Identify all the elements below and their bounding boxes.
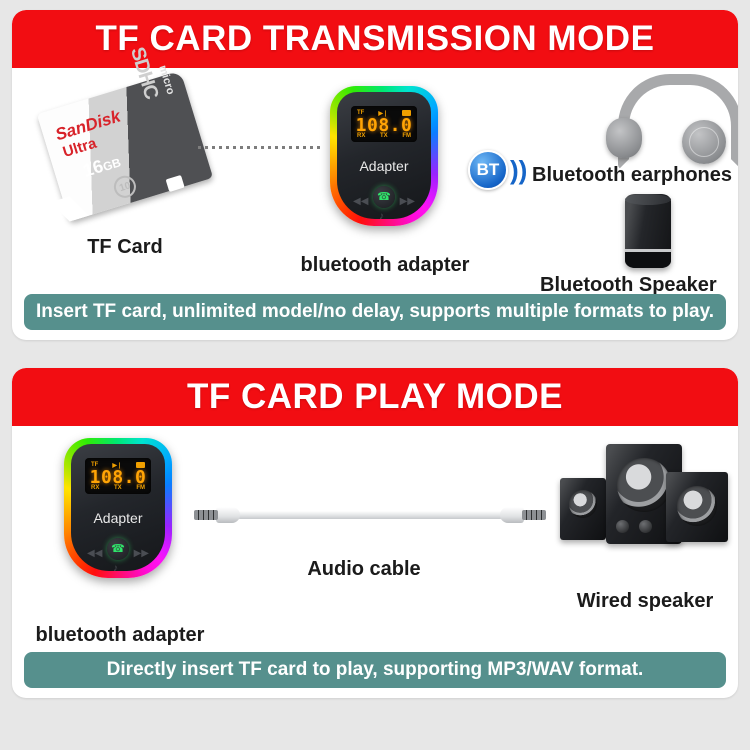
speaker-driver xyxy=(569,490,597,518)
panel-1-title: TF CARD TRANSMISSION MODE xyxy=(96,19,655,59)
headphone-cup-left xyxy=(606,118,642,158)
signal-waves-icon: )) xyxy=(510,157,527,183)
phone-icon: ☎ xyxy=(377,192,391,203)
plug-barrel xyxy=(500,507,524,523)
label-audio-cable: Audio cable xyxy=(264,558,464,581)
adapter-mode-button: ♪ xyxy=(113,563,118,574)
adapter-next-button: ▶▶ xyxy=(134,548,149,559)
tf-card-notch xyxy=(166,175,185,192)
panel-2-stage: TF ▶❘ 108.0 RX TX FM Adapter ☎ xyxy=(12,426,738,646)
display-label-fm: FM xyxy=(136,485,145,491)
adapter-call-button: ☎ xyxy=(373,186,395,208)
cable-plug-left xyxy=(194,504,240,526)
tf-card-capacity: 16GB xyxy=(81,151,124,182)
plug-tip xyxy=(522,510,546,520)
plug-barrel xyxy=(216,507,240,523)
wired-speaker-image xyxy=(560,436,728,546)
panel-tf-card-transmission-mode: TF CARD TRANSMISSION MODE SanDisk Ultra … xyxy=(12,10,738,340)
tf-card-speed-class: 10 xyxy=(111,173,138,200)
speaker-driver xyxy=(617,458,671,512)
tf-card-body: SanDisk Ultra 16GB 10 SDHC micro xyxy=(37,71,213,222)
panel-1-caption: Insert TF card, unlimited model/no delay… xyxy=(36,301,714,323)
label-wired-speaker: Wired speaker xyxy=(560,590,730,613)
bluetooth-speaker-image xyxy=(625,194,671,268)
adapter-device-name: Adapter xyxy=(71,510,165,526)
panel-2-caption: Directly insert TF card to play, support… xyxy=(107,659,644,681)
display-label-tx: TX xyxy=(114,485,122,491)
panel-1-header: TF CARD TRANSMISSION MODE xyxy=(12,10,738,68)
bt-badge-circle: BT xyxy=(468,150,508,190)
panel-1-stage: SanDisk Ultra 16GB 10 SDHC micro xyxy=(12,68,738,288)
adapter-shell: TF ▶❘ 108.0 RX TX FM Adapter ☎ xyxy=(71,444,165,571)
panel-2-header: TF CARD PLAY MODE xyxy=(12,368,738,426)
adapter-mode-button: ♪ xyxy=(379,211,384,222)
adapter-device-name: Adapter xyxy=(337,158,431,174)
bluetooth-earphones-image xyxy=(604,74,734,170)
infographic-page: TF CARD TRANSMISSION MODE SanDisk Ultra … xyxy=(0,0,750,750)
adapter-next-button: ▶▶ xyxy=(400,196,415,207)
headphone-cup-right xyxy=(682,120,726,164)
adapter-previous-button: ◀◀ xyxy=(87,548,102,559)
panel-1-caption-bar: Insert TF card, unlimited model/no delay… xyxy=(24,294,726,330)
panel-2-title: TF CARD PLAY MODE xyxy=(187,377,563,417)
tf-card-image: SanDisk Ultra 16GB 10 SDHC micro xyxy=(37,71,213,222)
adapter-previous-button: ◀◀ xyxy=(353,196,368,207)
tf-card-bevel xyxy=(50,196,88,221)
satellite-speaker-left xyxy=(560,478,606,540)
adapter-shell: TF ▶❘ 108.0 RX TX FM Adapter ☎ xyxy=(337,92,431,219)
tf-card-capacity-unit: GB xyxy=(101,155,122,174)
panel-2-caption-bar: Directly insert TF card to play, support… xyxy=(24,652,726,688)
volume-knob-icon xyxy=(616,520,629,533)
speaker-base xyxy=(625,252,671,268)
panel-tf-card-play-mode: TF CARD PLAY MODE TF ▶❘ 108.0 RX xyxy=(12,368,738,698)
bluetooth-adapter-image-2: TF ▶❘ 108.0 RX TX FM Adapter ☎ xyxy=(64,438,172,578)
cable-plug-right xyxy=(500,504,546,526)
phone-icon: ☎ xyxy=(111,544,125,555)
display-label-rx: RX xyxy=(91,485,99,491)
display-label-fm: FM xyxy=(402,133,411,139)
speaker-knobs xyxy=(610,516,686,536)
adapter-display: TF ▶❘ 108.0 RX TX FM xyxy=(85,458,151,494)
adapter-call-button: ☎ xyxy=(107,538,129,560)
label-bluetooth-earphones: Bluetooth earphones xyxy=(532,164,732,187)
label-bluetooth-adapter: bluetooth adapter xyxy=(290,254,480,277)
plug-tip xyxy=(194,510,218,520)
speaker-top xyxy=(625,194,671,205)
label-tf-card: TF Card xyxy=(50,236,200,259)
cable-wire xyxy=(236,511,504,519)
adapter-display-bottom-row: RX TX FM xyxy=(357,132,411,140)
display-label-rx: RX xyxy=(357,133,365,139)
bluetooth-adapter-image-1: TF ▶❘ 108.0 RX TX FM Adapter ☎ xyxy=(330,86,438,226)
bass-knob-icon xyxy=(639,520,652,533)
bluetooth-badge: BT )) xyxy=(468,150,527,190)
label-bluetooth-adapter-2: bluetooth adapter xyxy=(20,624,220,647)
audio-cable-image xyxy=(194,502,546,528)
adapter-display: TF ▶❘ 108.0 RX TX FM xyxy=(351,106,417,142)
adapter-display-bottom-row: RX TX FM xyxy=(91,484,145,492)
display-label-tx: TX xyxy=(380,133,388,139)
connector-dots xyxy=(198,146,322,149)
